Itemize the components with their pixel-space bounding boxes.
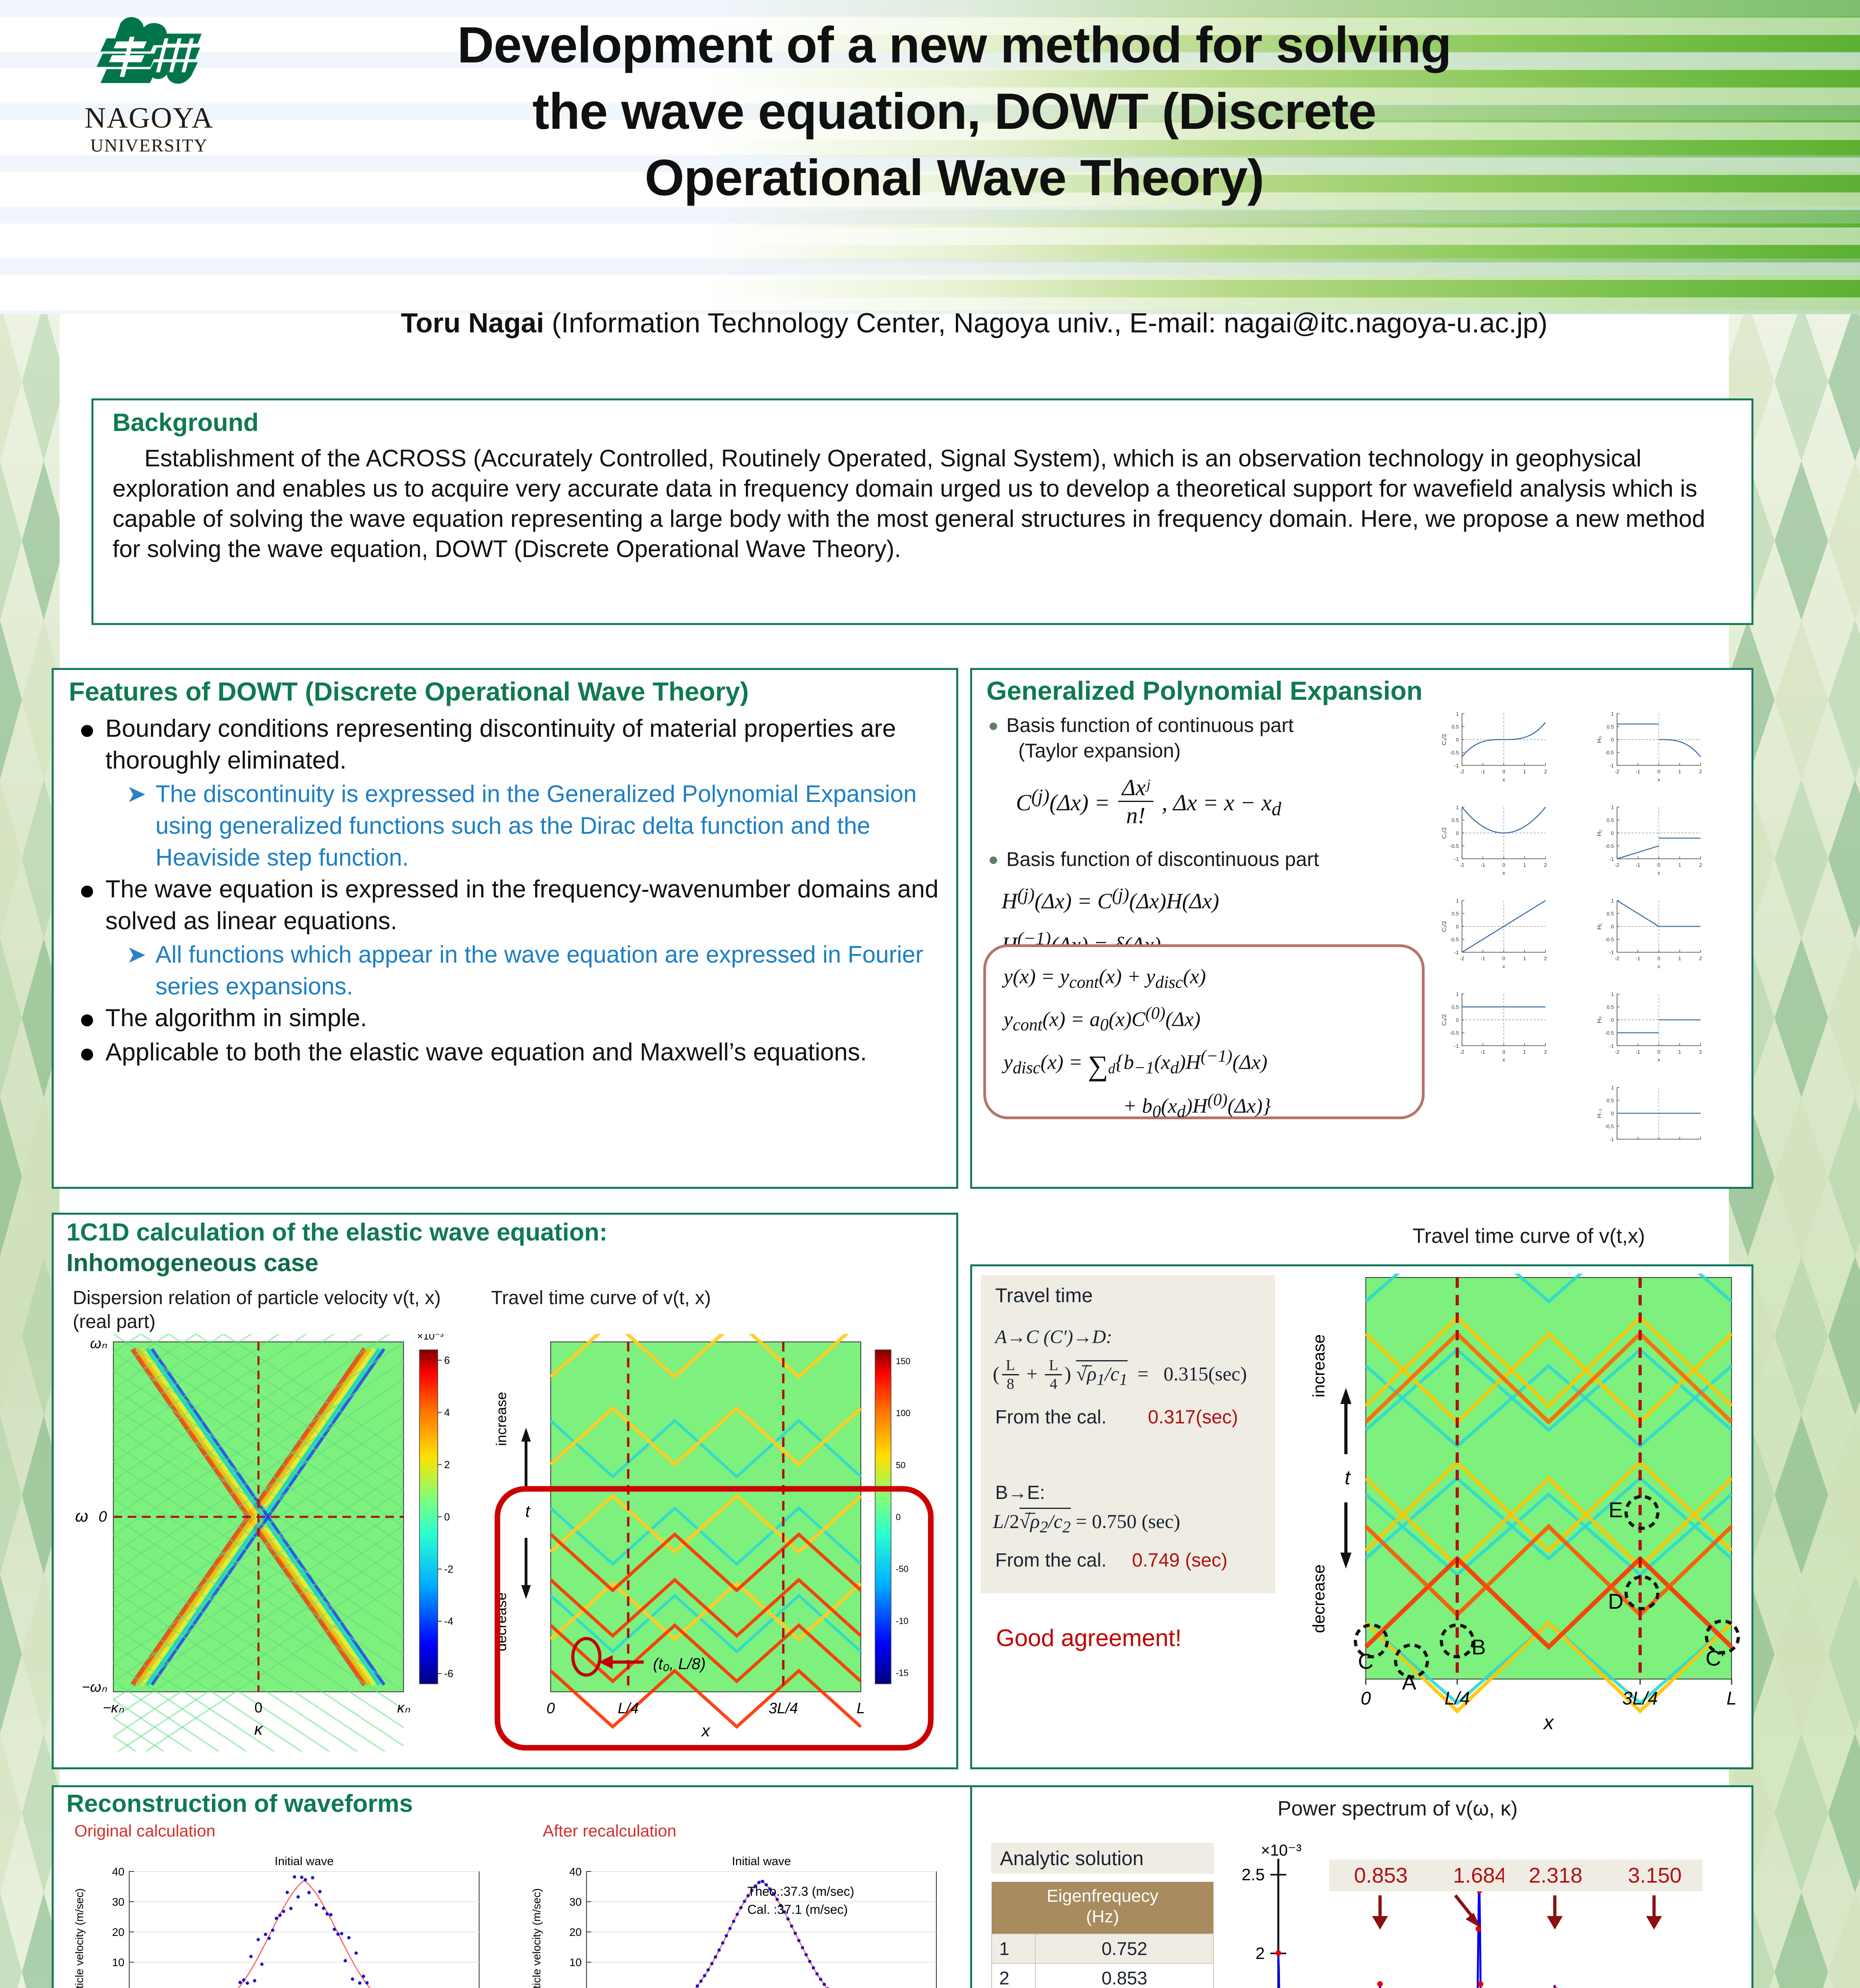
svg-text:-0.5: -0.5 bbox=[1605, 1030, 1614, 1036]
svg-text:0.5: 0.5 bbox=[1452, 817, 1459, 823]
gpe-item1-sublabel: (Taylor expansion) bbox=[1018, 738, 1433, 763]
author-line: Toru Nagai (Information Technology Cente… bbox=[278, 306, 1670, 340]
svg-text:2: 2 bbox=[1544, 769, 1547, 775]
svg-text:-1: -1 bbox=[1454, 949, 1459, 955]
traveltime-curve-chart-right: ABCC′DE0L/43L/4Lxincreasedecrease t bbox=[1306, 1274, 1744, 1747]
svg-text:x: x bbox=[701, 1721, 711, 1740]
svg-text:x: x bbox=[1503, 870, 1505, 876]
svg-text:3L/4: 3L/4 bbox=[1622, 1688, 1658, 1708]
svg-text:-1: -1 bbox=[1636, 1049, 1641, 1055]
svg-text:0.853: 0.853 bbox=[1354, 1864, 1408, 1887]
analytic-solution-label: Analytic solution bbox=[991, 1843, 1214, 1874]
svg-text:H₋₁: H₋₁ bbox=[1596, 1109, 1603, 1118]
bullet-dot-icon: ● bbox=[988, 713, 1006, 738]
svg-text:-0.5: -0.5 bbox=[1605, 937, 1614, 943]
fraction-numerator: Δxʲ bbox=[1118, 774, 1153, 802]
bullet-icon: ● bbox=[69, 1002, 105, 1035]
dispersion-caption: Dispersion relation of particle velocity… bbox=[73, 1286, 454, 1334]
svg-text:30: 30 bbox=[112, 1896, 124, 1908]
svg-text:Initial wave: Initial wave bbox=[732, 1855, 791, 1868]
svg-text:0: 0 bbox=[1361, 1688, 1371, 1708]
svg-text:10: 10 bbox=[112, 1956, 124, 1969]
svg-text:-6: -6 bbox=[444, 1668, 453, 1679]
svg-text:-1: -1 bbox=[1609, 856, 1614, 862]
svg-text:1: 1 bbox=[1611, 898, 1614, 904]
svg-text:2.5: 2.5 bbox=[1242, 1865, 1265, 1884]
table-header-line2: (Hz) bbox=[1086, 1907, 1119, 1926]
svg-text:-2: -2 bbox=[1615, 955, 1619, 961]
svg-text:t: t bbox=[525, 1502, 531, 1520]
svg-text:-2: -2 bbox=[1460, 955, 1464, 961]
gpe-left-column: ● Basis function of continuous part (Tay… bbox=[988, 713, 1433, 960]
feature-subtext: The discontinuity is expressed in the Ge… bbox=[155, 778, 944, 874]
svg-text:C₁/2: C₁/2 bbox=[1441, 921, 1448, 932]
svg-text:1: 1 bbox=[1611, 1085, 1614, 1091]
svg-text:L/4: L/4 bbox=[618, 1700, 639, 1717]
svg-text:1: 1 bbox=[1456, 711, 1459, 717]
svg-text:2: 2 bbox=[1544, 955, 1547, 961]
feature-text: The wave equation is expressed in the fr… bbox=[105, 874, 944, 937]
logo-university-text: UNIVERSITY bbox=[64, 135, 235, 156]
svg-text:Particle velocity (m/sec): Particle velocity (m/sec) bbox=[530, 1888, 543, 1988]
gpe-item-continuous: ● Basis function of continuous part bbox=[988, 713, 1433, 738]
page-title: Development of a new method for solving … bbox=[278, 12, 1630, 211]
svg-text:0.5: 0.5 bbox=[1607, 1004, 1614, 1010]
svg-text:-1: -1 bbox=[1454, 856, 1459, 862]
features-title: Features of DOWT (Discrete Operational W… bbox=[69, 676, 749, 707]
svg-text:C₀/2: C₀/2 bbox=[1441, 1014, 1448, 1026]
title-line-2: the wave equation, DOWT (Discrete bbox=[278, 78, 1630, 145]
svg-text:-0.5: -0.5 bbox=[1605, 843, 1614, 849]
svg-text:κₙ: κₙ bbox=[397, 1699, 410, 1716]
svg-text:C′: C′ bbox=[1705, 1646, 1725, 1670]
list-item: ● The algorithm in simple. bbox=[69, 1002, 944, 1035]
svg-text:0: 0 bbox=[1657, 862, 1660, 868]
gpe-section: Generalized Polynomial Expansion ● Basis… bbox=[970, 668, 1753, 1189]
svg-text:-1: -1 bbox=[1636, 769, 1641, 775]
basis-function-grid: 10.50-0.5-1-2-1012xC₃/210.50-0.5-1-2-101… bbox=[1434, 708, 1744, 1181]
svg-text:-10: -10 bbox=[896, 1616, 909, 1626]
svg-text:1: 1 bbox=[1678, 862, 1681, 868]
list-item: ● The wave equation is expressed in the … bbox=[69, 874, 944, 937]
svg-text:1.684: 1.684 bbox=[1453, 1864, 1507, 1887]
title-line-1: Development of a new method for solving bbox=[278, 12, 1630, 78]
traveltime-section: Travel time curve of v(t,x) Travel time … bbox=[970, 1264, 1753, 1769]
svg-text:C₂/2: C₂/2 bbox=[1441, 827, 1448, 839]
waveform-panels: Initial wave403020100-10-0.3-0.2-0.100.1… bbox=[58, 1835, 972, 1988]
svg-text:-2: -2 bbox=[1460, 1049, 1464, 1055]
spectrum-section-title: Power spectrum of v(ω, κ) bbox=[1079, 1797, 1716, 1821]
svg-text:-1: -1 bbox=[1481, 862, 1485, 868]
row-frequency: 0.752 bbox=[1035, 1934, 1213, 1963]
path2-equation: L/2√̅ρ2/c2 = 0.750 (sec) bbox=[993, 1510, 1180, 1537]
svg-text:0: 0 bbox=[1611, 737, 1614, 743]
spectrum-section: Power spectrum of v(ω, κ) Analytic solut… bbox=[970, 1785, 1753, 1988]
svg-text:-1: -1 bbox=[1481, 769, 1485, 775]
svg-text:2.318: 2.318 bbox=[1529, 1864, 1582, 1887]
svg-text:0.5: 0.5 bbox=[1607, 1098, 1614, 1104]
svg-text:0: 0 bbox=[1456, 924, 1459, 930]
svg-text:-0.5: -0.5 bbox=[1450, 750, 1459, 756]
traveltime-good-agreement: Good agreement! bbox=[996, 1624, 1182, 1652]
svg-text:(t₀, L/8): (t₀, L/8) bbox=[653, 1655, 705, 1673]
svg-text:0.5: 0.5 bbox=[1607, 724, 1614, 730]
svg-text:30: 30 bbox=[569, 1896, 582, 1908]
svg-text:40: 40 bbox=[112, 1866, 124, 1878]
svg-text:0: 0 bbox=[1657, 955, 1660, 961]
svg-text:D: D bbox=[1608, 1590, 1623, 1613]
svg-text:-1: -1 bbox=[1609, 763, 1614, 769]
bullet-icon: ● bbox=[69, 874, 105, 906]
svg-text:-0.5: -0.5 bbox=[1605, 750, 1614, 756]
arrow-right-icon: ➤ bbox=[117, 778, 155, 810]
svg-text:-2: -2 bbox=[1460, 769, 1464, 775]
table-header-row: Eigenfrequecy (Hz) bbox=[992, 1882, 1213, 1934]
svg-text:B: B bbox=[1472, 1635, 1486, 1659]
svg-text:0: 0 bbox=[1456, 737, 1459, 743]
svg-text:Particle velocity (m/sec): Particle velocity (m/sec) bbox=[73, 1888, 85, 1988]
svg-text:3.150: 3.150 bbox=[1628, 1864, 1681, 1887]
list-item: ● Applicable to both the elastic wave eq… bbox=[69, 1037, 944, 1069]
svg-text:ω: ω bbox=[75, 1507, 88, 1525]
svg-text:-0.5: -0.5 bbox=[1450, 843, 1459, 849]
svg-text:0: 0 bbox=[99, 1508, 107, 1525]
svg-text:20: 20 bbox=[569, 1926, 582, 1938]
svg-text:0: 0 bbox=[1611, 1110, 1614, 1116]
svg-text:0: 0 bbox=[1611, 924, 1614, 930]
svg-text:0: 0 bbox=[1502, 862, 1505, 868]
gpe-item2-label: Basis function of discontinuous part bbox=[1006, 847, 1319, 872]
svg-text:L: L bbox=[856, 1700, 865, 1717]
svg-text:0: 0 bbox=[1611, 1017, 1614, 1023]
list-item-sub: ➤ All functions which appear in the wave… bbox=[117, 939, 944, 1002]
logo-nagoya-text: NAGOYA bbox=[64, 101, 235, 135]
equation-ydisc: ydisc(x) = ∑d{b−1(xd)H(−1)(Δx) bbox=[1004, 1041, 1271, 1084]
traveltime-caption: Travel time curve of v(t, x) bbox=[491, 1286, 849, 1310]
svg-text:-1: -1 bbox=[1454, 763, 1459, 769]
reconstruction-section: Reconstruction of waveforms Original cal… bbox=[52, 1785, 978, 1988]
svg-text:2: 2 bbox=[1699, 1049, 1702, 1055]
power-spectrum-chart: 00.511.522.50123×10⁻³Frequency (Hz)0.853… bbox=[1219, 1831, 1744, 1988]
bullet-icon: ● bbox=[69, 713, 105, 745]
list-item-sub: ➤ The discontinuity is expressed in the … bbox=[117, 778, 944, 874]
svg-text:0.5: 0.5 bbox=[1452, 724, 1459, 730]
gpe-item-discontinuous: ● Basis function of discontinuous part bbox=[988, 847, 1433, 872]
features-list: ● Boundary conditions representing disco… bbox=[69, 713, 944, 1071]
svg-text:1: 1 bbox=[1611, 804, 1614, 810]
background-title: Background bbox=[113, 408, 259, 437]
spectrum-title-text: Power spectrum of v(ω, κ) bbox=[1278, 1797, 1518, 1820]
equation-ycont: ycont(x) = a0(x)C(0)(Δx) bbox=[1004, 998, 1271, 1041]
svg-text:-1: -1 bbox=[1636, 862, 1641, 868]
svg-text:1: 1 bbox=[1523, 955, 1526, 961]
svg-text:0.5: 0.5 bbox=[1607, 911, 1614, 917]
svg-text:increase: increase bbox=[1309, 1334, 1328, 1398]
svg-text:decrease: decrease bbox=[1309, 1565, 1328, 1633]
svg-text:0: 0 bbox=[1502, 769, 1505, 775]
fraction-denominator: n! bbox=[1118, 802, 1153, 829]
svg-text:C₃/2: C₃/2 bbox=[1441, 734, 1448, 745]
c1d-section: 1C1D calculation of the elastic wave equ… bbox=[52, 1213, 958, 1769]
traveltime-section-title: Travel time curve of v(t,x) bbox=[1330, 1224, 1728, 1248]
svg-text:2: 2 bbox=[444, 1459, 450, 1471]
svg-text:2: 2 bbox=[1699, 769, 1702, 775]
svg-text:40: 40 bbox=[569, 1866, 582, 1878]
svg-text:H₁: H₁ bbox=[1596, 923, 1603, 930]
svg-text:1: 1 bbox=[1456, 898, 1459, 904]
reconstruction-title: Reconstruction of waveforms bbox=[66, 1790, 413, 1818]
svg-text:1: 1 bbox=[1611, 711, 1614, 717]
gpe-basis-function-minicharts: 10.50-0.5-1-2-1012xC₃/210.50-0.5-1-2-101… bbox=[1434, 708, 1744, 1181]
path1-cal-label: From the cal. bbox=[995, 1406, 1107, 1428]
svg-text:1: 1 bbox=[1611, 991, 1614, 997]
row-frequency: 0.853 bbox=[1035, 1963, 1213, 1988]
svg-text:−κₙ: −κₙ bbox=[103, 1699, 124, 1716]
row-index: 2 bbox=[992, 1963, 1035, 1988]
svg-text:1: 1 bbox=[1456, 804, 1459, 810]
path2-cal-label: From the cal. bbox=[995, 1549, 1107, 1571]
svg-text:2: 2 bbox=[1544, 862, 1547, 868]
svg-text:x: x bbox=[1658, 963, 1660, 969]
svg-text:2: 2 bbox=[1699, 862, 1702, 868]
gpe-title: Generalized Polynomial Expansion bbox=[986, 676, 1423, 706]
table-header-cell: Eigenfrequecy (Hz) bbox=[992, 1882, 1213, 1934]
path1-cal-value: 0.317(sec) bbox=[1148, 1406, 1238, 1428]
left-diamond-pattern bbox=[0, 302, 60, 1988]
svg-text:0: 0 bbox=[1502, 955, 1505, 961]
svg-text:-0.5: -0.5 bbox=[1605, 1124, 1614, 1130]
svg-text:-1: -1 bbox=[1454, 1043, 1459, 1049]
svg-text:0.5: 0.5 bbox=[1607, 817, 1614, 823]
table-row: 1 0.752 bbox=[992, 1934, 1213, 1963]
svg-text:0: 0 bbox=[546, 1700, 555, 1717]
svg-text:0: 0 bbox=[254, 1699, 262, 1716]
svg-text:6: 6 bbox=[444, 1354, 450, 1366]
equation-y: y(x) = ycont(x) + ydisc(x) bbox=[1004, 961, 1271, 998]
background-section: Background Establishment of the ACROSS (… bbox=[91, 398, 1753, 625]
svg-text:2: 2 bbox=[1544, 1049, 1547, 1055]
svg-text:-1: -1 bbox=[1609, 1136, 1614, 1142]
svg-text:1: 1 bbox=[1523, 862, 1526, 868]
svg-text:-2: -2 bbox=[1615, 1049, 1619, 1055]
list-item: ● Boundary conditions representing disco… bbox=[69, 713, 944, 777]
features-section: Features of DOWT (Discrete Operational W… bbox=[52, 668, 958, 1189]
svg-text:L: L bbox=[1726, 1688, 1737, 1708]
svg-text:3L/4: 3L/4 bbox=[769, 1700, 798, 1717]
svg-text:0: 0 bbox=[1657, 1049, 1660, 1055]
traveltime-computation-panel: Travel time A→C (C′)→D: (L8 + L4) √̅ρ1/c… bbox=[981, 1275, 1275, 1593]
svg-text:x: x bbox=[1503, 777, 1505, 782]
feature-subtext: All functions which appear in the wave e… bbox=[155, 939, 944, 1002]
feature-text: Boundary conditions representing discont… bbox=[105, 713, 944, 777]
svg-text:0: 0 bbox=[896, 1512, 901, 1522]
svg-text:Cal. :37.1 (m/sec): Cal. :37.1 (m/sec) bbox=[747, 1902, 848, 1916]
path1-label: A→C (C′)→D: bbox=[995, 1326, 1112, 1348]
svg-text:1: 1 bbox=[1523, 1049, 1526, 1055]
feature-text: The algorithm in simple. bbox=[105, 1002, 367, 1034]
dispersion-relation-chart: ωₙ0−ωₙω−κₙ0κₙκ ×10⁻³6420-2-4-6 bbox=[70, 1334, 491, 1751]
row-index: 1 bbox=[992, 1934, 1035, 1963]
svg-text:L/4: L/4 bbox=[1445, 1688, 1470, 1708]
svg-text:1: 1 bbox=[1456, 991, 1459, 997]
svg-text:0: 0 bbox=[1456, 830, 1459, 836]
svg-text:H₃: H₃ bbox=[1596, 736, 1603, 743]
traveltime-panel-title: Travel time bbox=[995, 1284, 1093, 1307]
svg-text:-0.5: -0.5 bbox=[1450, 1030, 1459, 1036]
svg-text:×10⁻³: ×10⁻³ bbox=[1261, 1842, 1301, 1859]
traveltime-curve-chart-left: (t₀, L/8)0L/43L/4Lxincreasedecrease t150… bbox=[483, 1334, 940, 1751]
svg-text:-4: -4 bbox=[444, 1615, 453, 1627]
author-affiliation: (Information Technology Center, Nagoya u… bbox=[544, 307, 1547, 338]
svg-text:H₀: H₀ bbox=[1596, 1016, 1603, 1023]
svg-text:-1: -1 bbox=[1636, 955, 1641, 961]
power-spectrum-svg: 00.511.522.50123×10⁻³Frequency (Hz)0.853… bbox=[1219, 1831, 1744, 1988]
c1d-subtitle: Inhomogeneous case bbox=[66, 1249, 318, 1277]
fraction: Δxʲ n! bbox=[1118, 774, 1153, 829]
svg-text:50: 50 bbox=[896, 1460, 905, 1470]
boxed-equation-group: y(x) = ycont(x) + ydisc(x) ycont(x) = a0… bbox=[1004, 961, 1271, 1127]
svg-text:x: x bbox=[1658, 1057, 1660, 1063]
svg-text:1: 1 bbox=[1523, 769, 1526, 775]
path2-cal-value: 0.749 (sec) bbox=[1132, 1549, 1227, 1571]
c1d-title: 1C1D calculation of the elastic wave equ… bbox=[66, 1218, 608, 1247]
bullet-icon: ● bbox=[69, 1037, 105, 1069]
svg-text:0: 0 bbox=[1657, 769, 1660, 775]
path2-label: B→E: bbox=[995, 1482, 1045, 1504]
table-header-line1: Eigenfrequecy bbox=[1046, 1886, 1158, 1906]
svg-text:0: 0 bbox=[444, 1511, 450, 1523]
svg-text:x: x bbox=[1658, 870, 1660, 876]
title-line-3: Operational Wave Theory) bbox=[278, 145, 1630, 211]
svg-text:100: 100 bbox=[896, 1408, 911, 1418]
svg-text:0: 0 bbox=[1456, 1017, 1459, 1023]
svg-text:0: 0 bbox=[1611, 830, 1614, 836]
svg-text:−ωₙ: −ωₙ bbox=[82, 1679, 107, 1695]
svg-text:0.5: 0.5 bbox=[1452, 1004, 1459, 1010]
table-row: 2 0.853 bbox=[992, 1963, 1213, 1988]
nagoya-university-logo: NAGOYA UNIVERSITY bbox=[64, 10, 235, 156]
svg-text:x: x bbox=[1658, 777, 1660, 782]
svg-text:κ: κ bbox=[254, 1720, 264, 1738]
svg-text:1: 1 bbox=[1678, 955, 1681, 961]
svg-text:E: E bbox=[1609, 1498, 1623, 1522]
svg-text:2: 2 bbox=[1256, 1944, 1265, 1963]
feature-text: Applicable to both the elastic wave equa… bbox=[105, 1037, 867, 1068]
gpe-boxed-equations: y(x) = ycont(x) + ydisc(x) ycont(x) = a0… bbox=[983, 944, 1425, 1119]
svg-text:-1: -1 bbox=[1609, 1043, 1614, 1049]
svg-text:0.5: 0.5 bbox=[1452, 911, 1459, 917]
background-body: Establishment of the ACROSS (Accurately … bbox=[113, 443, 1736, 564]
nagoya-logo-mark bbox=[83, 10, 215, 101]
gpe-item1-label: Basis function of continuous part bbox=[1006, 713, 1294, 738]
svg-text:4: 4 bbox=[444, 1406, 450, 1418]
path1-equation: (L8 + L4) √̅ρ1/c1 = 0.315(sec) bbox=[993, 1357, 1247, 1393]
svg-text:H₂: H₂ bbox=[1596, 829, 1603, 836]
svg-text:t: t bbox=[1345, 1466, 1351, 1489]
svg-text:-2: -2 bbox=[1460, 862, 1464, 868]
svg-text:-2: -2 bbox=[1615, 769, 1619, 775]
svg-text:-2: -2 bbox=[1615, 862, 1619, 868]
bullet-dot-icon: ● bbox=[988, 847, 1006, 872]
equation-h-basis: H(j)(Δx) = C(j)(Δx)H(Δx) bbox=[1002, 879, 1433, 916]
svg-text:0: 0 bbox=[575, 1986, 582, 1988]
svg-text:x: x bbox=[1503, 1057, 1505, 1063]
svg-text:-1: -1 bbox=[1609, 949, 1614, 955]
author-name: Toru Nagai bbox=[401, 307, 544, 338]
eigenfrequency-table: Eigenfrequecy (Hz) 1 0.7522 0.8533 1.520… bbox=[991, 1882, 1214, 1988]
svg-text:A: A bbox=[1402, 1671, 1416, 1695]
svg-text:Theo.:37.3 (m/sec): Theo.:37.3 (m/sec) bbox=[747, 1884, 854, 1899]
svg-text:ωₙ: ωₙ bbox=[90, 1335, 107, 1351]
svg-text:0: 0 bbox=[118, 1986, 124, 1988]
svg-text:Initial wave: Initial wave bbox=[275, 1855, 334, 1868]
svg-text:x: x bbox=[1503, 963, 1505, 969]
svg-text:150: 150 bbox=[896, 1356, 911, 1366]
svg-text:-2: -2 bbox=[444, 1563, 453, 1575]
svg-text:x: x bbox=[1543, 1711, 1555, 1734]
svg-text:-15: -15 bbox=[896, 1668, 909, 1678]
equation-ydisc-2: + b0(xd)H(0)(Δx)} bbox=[1123, 1084, 1271, 1127]
svg-text:1: 1 bbox=[1678, 769, 1681, 775]
arrow-right-icon: ➤ bbox=[117, 939, 155, 971]
svg-text:20: 20 bbox=[112, 1926, 124, 1938]
svg-text:0: 0 bbox=[1502, 1049, 1505, 1055]
svg-text:-0.5: -0.5 bbox=[1450, 937, 1459, 943]
equation-continuous-basis: C(j)(Δx) = Δxʲ n! , Δx = x − xd bbox=[1016, 774, 1433, 829]
svg-text:-1: -1 bbox=[1481, 1049, 1485, 1055]
svg-text:×10⁻³: ×10⁻³ bbox=[417, 1334, 444, 1342]
svg-text:C: C bbox=[1358, 1650, 1373, 1673]
svg-text:-1: -1 bbox=[1481, 955, 1485, 961]
traveltime-right-svg: ABCC′DE0L/43L/4Lxincreasedecrease t bbox=[1306, 1274, 1744, 1747]
svg-text:10: 10 bbox=[569, 1956, 582, 1969]
svg-text:1: 1 bbox=[1678, 1049, 1681, 1055]
svg-text:increase: increase bbox=[493, 1392, 509, 1446]
svg-text:-50: -50 bbox=[896, 1564, 909, 1574]
svg-text:2: 2 bbox=[1699, 955, 1702, 961]
